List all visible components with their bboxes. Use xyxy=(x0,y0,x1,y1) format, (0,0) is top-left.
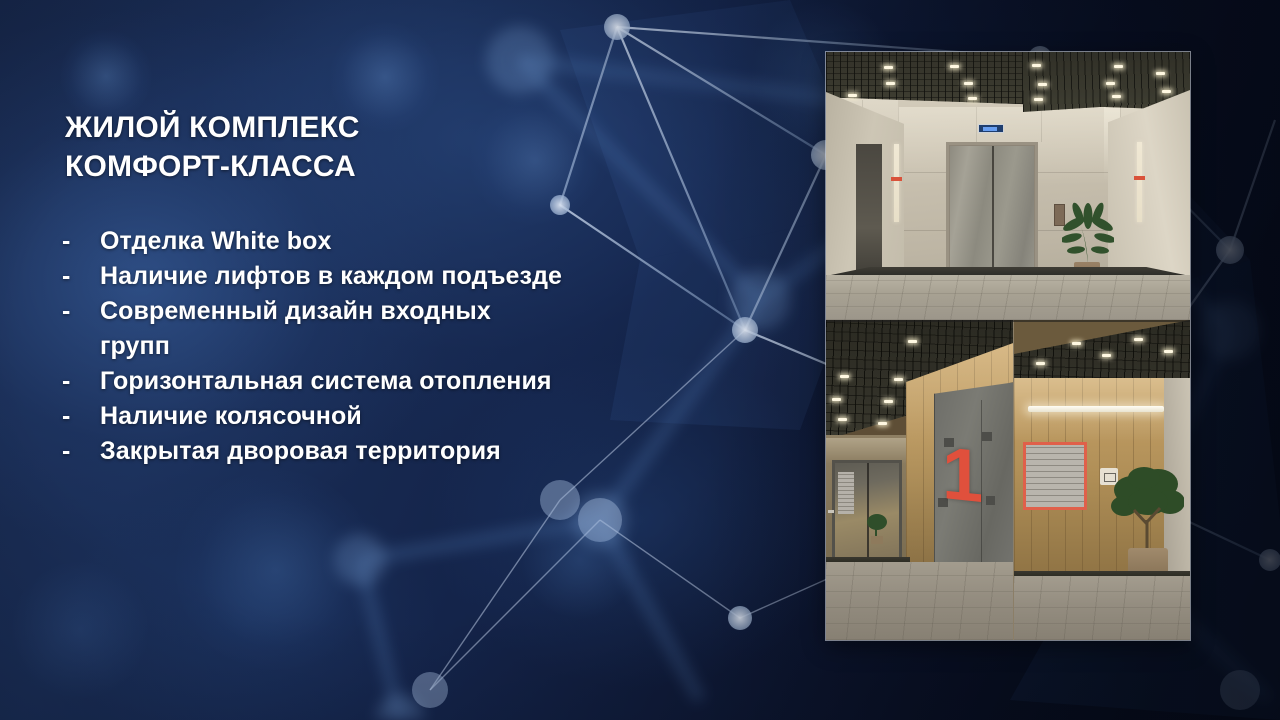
list-item: - Наличие лифтов в каждом подъезде xyxy=(62,259,822,294)
wall-light-strip xyxy=(894,144,899,222)
entrance-lobby-right xyxy=(1013,320,1190,640)
list-item: - Наличие колясочной xyxy=(62,399,822,434)
list-item-label: Наличие лифтов в каждом подъезде xyxy=(100,259,562,294)
title-line-2: КОМФОРТ-КЛАССА xyxy=(65,147,705,186)
photo-elevator-lobby xyxy=(826,52,1190,320)
mailbox-wall[interactable] xyxy=(1023,442,1087,510)
bullet-dash-icon: - xyxy=(62,294,100,329)
photo-panel: 1 xyxy=(826,52,1190,640)
photo-entrance-lobby: 1 xyxy=(826,320,1190,640)
bullet-dash-icon: - xyxy=(62,364,100,399)
potted-tree-icon xyxy=(1110,462,1184,558)
list-item: - Закрытая дворовая территория xyxy=(62,434,822,469)
photo-divider xyxy=(826,320,1190,322)
list-item-continuation: - групп xyxy=(62,329,822,364)
list-item: - Отделка White box xyxy=(62,224,822,259)
list-item-label: групп xyxy=(100,329,170,364)
elevator-doors xyxy=(950,146,1034,282)
elevator-floor-indicator xyxy=(978,124,1004,133)
list-item-label: Отделка White box xyxy=(100,224,332,259)
entrance-number: 1 xyxy=(942,436,983,514)
page-title: ЖИЛОЙ КОМПЛЕКС КОМФОРТ-КЛАССА xyxy=(65,108,705,186)
entrance-lobby-left: 1 xyxy=(826,320,1015,640)
list-item-label: Современный дизайн входных xyxy=(100,294,491,329)
list-item: - Горизонтальная система отопления xyxy=(62,364,822,399)
bullet-dash-icon: - xyxy=(62,259,100,294)
linear-light-fixture xyxy=(1028,406,1164,412)
wall-light-strip xyxy=(1137,142,1142,222)
list-item: - Современный дизайн входных xyxy=(62,294,822,329)
bullet-dash-icon: - xyxy=(62,434,100,469)
bullet-dash-icon: - xyxy=(62,399,100,434)
slide-canvas: ЖИЛОЙ КОМПЛЕКС КОМФОРТ-КЛАССА - Отделка … xyxy=(0,0,1280,720)
list-item-label: Горизонтальная система отопления xyxy=(100,364,552,399)
title-line-1: ЖИЛОЙ КОМПЛЕКС xyxy=(65,108,705,147)
list-item-label: Закрытая дворовая территория xyxy=(100,434,501,469)
potted-plant-icon xyxy=(1062,194,1114,266)
feature-list: - Отделка White box - Наличие лифтов в к… xyxy=(62,224,822,469)
list-item-label: Наличие колясочной xyxy=(100,399,362,434)
bullet-dash-icon: - xyxy=(62,224,100,259)
